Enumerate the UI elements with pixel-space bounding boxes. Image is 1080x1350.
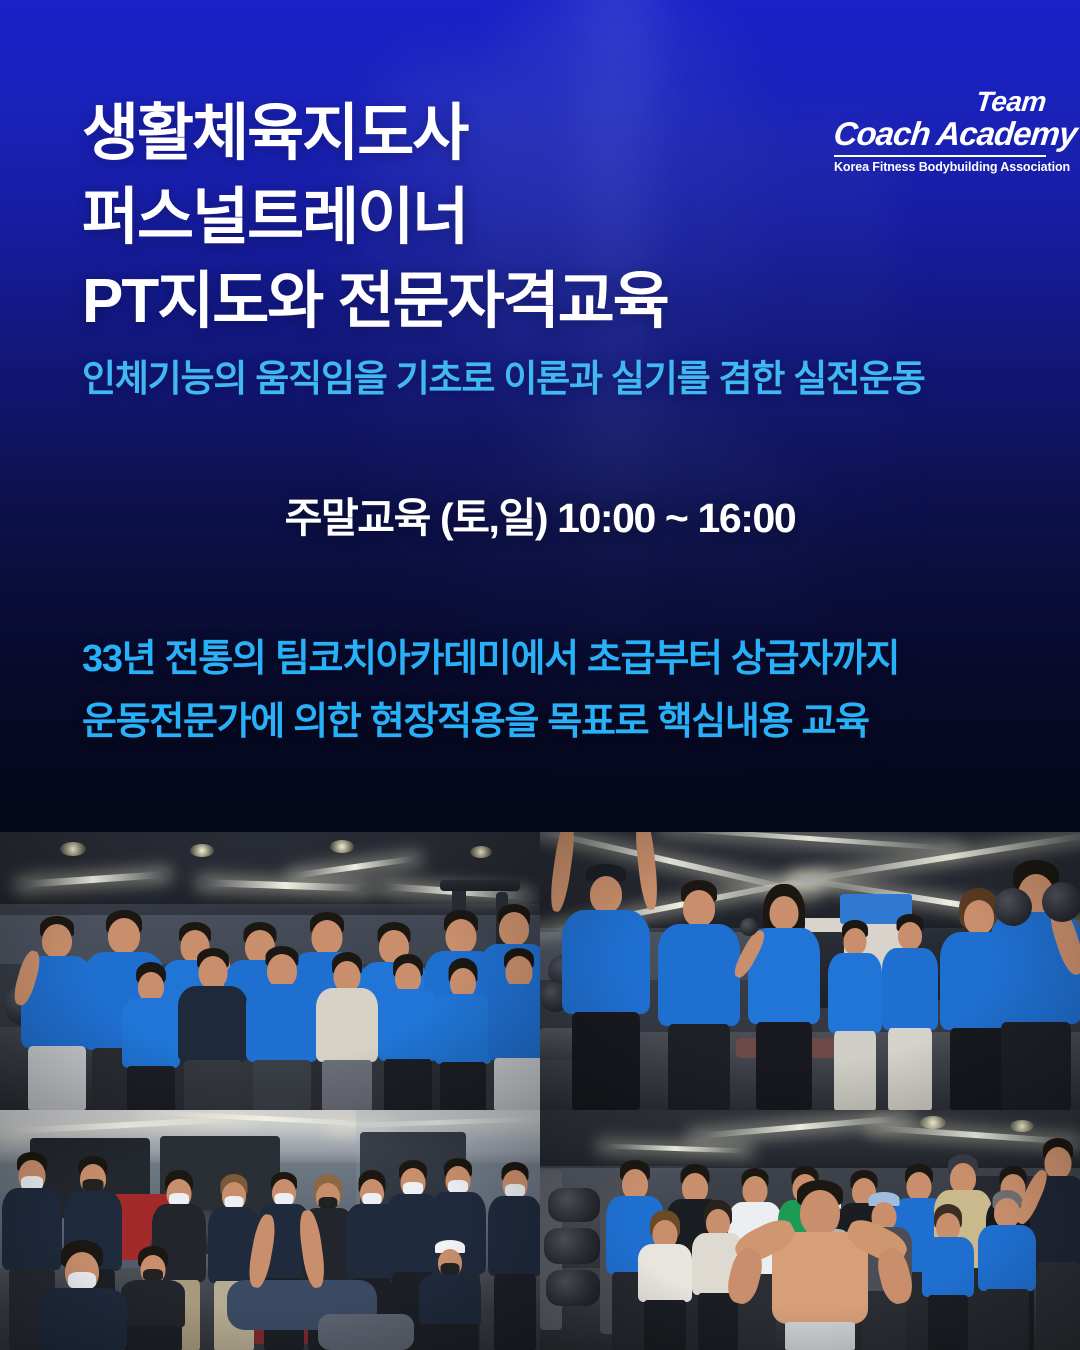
photo-group-blue-shirts — [0, 832, 540, 1110]
photo-dumbbell-class — [540, 832, 1080, 1110]
hero-section: Team Coach Academy Korea Fitness Bodybui… — [0, 0, 1080, 832]
description-text: 33년 전통의 팀코치아카데미에서 초급부터 상급자까지 운동전문가에 의한 현… — [82, 628, 899, 754]
promotional-poster: Team Coach Academy Korea Fitness Bodybui… — [0, 0, 1080, 1350]
description-line-2: 운동전문가에 의한 현장적용을 목표로 핵심내용 교육 — [82, 691, 899, 754]
description-line-1: 33년 전통의 팀코치아카데미에서 초급부터 상급자까지 — [82, 628, 899, 691]
subtitle-text: 인체기능의 움직임을 기초로 이론과 실기를 겸한 실전운동 — [82, 348, 925, 402]
brand-logo: Team Coach Academy Korea Fitness Bodybui… — [834, 88, 1046, 174]
page-title: 생활체육지도사 퍼스널트레이너 PT지도와 전문자격교육 — [82, 92, 668, 344]
logo-main-text: Coach Academy — [832, 117, 1047, 150]
photo-bench-press-demo — [0, 1110, 540, 1350]
logo-divider — [834, 155, 1046, 157]
photo-grid — [0, 832, 1080, 1350]
photo-bodybuilder-pose — [540, 1110, 1080, 1350]
schedule-text: 주말교육 (토,일) 10:00 ~ 16:00 — [0, 484, 1080, 544]
logo-team-text: Team — [833, 88, 1048, 116]
headline-line-3: PT지도와 전문자격교육 — [82, 260, 668, 344]
headline-line-2: 퍼스널트레이너 — [82, 176, 668, 260]
logo-association-text: Korea Fitness Bodybuilding Association — [834, 161, 1046, 174]
headline-line-1: 생활체육지도사 — [82, 92, 668, 176]
